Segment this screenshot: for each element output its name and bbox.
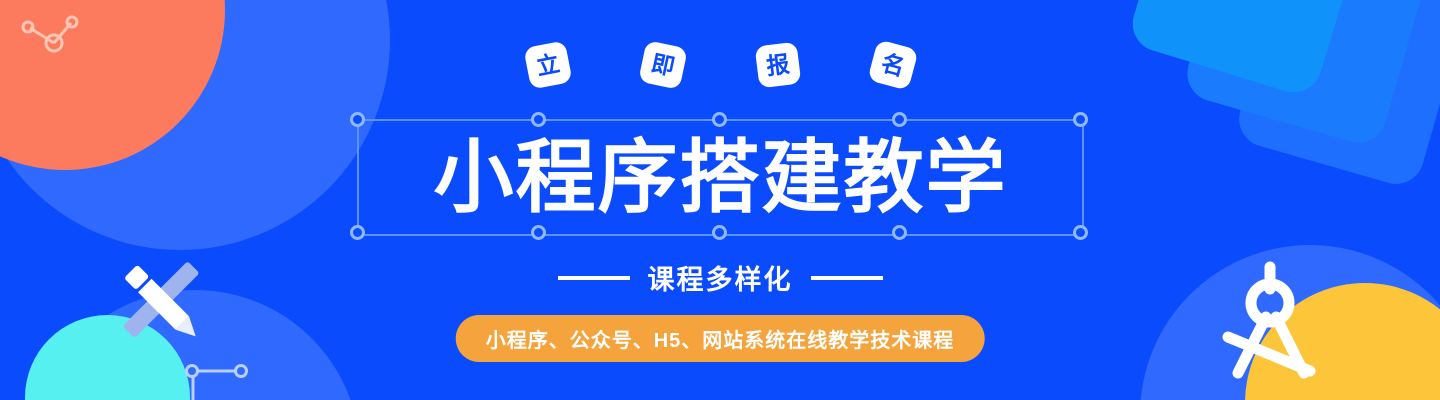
subtitle-rule-left <box>558 276 630 280</box>
resize-handle-tc[interactable] <box>712 112 727 127</box>
resize-handle-tl[interactable] <box>350 112 365 127</box>
promo-banner: 立 即 报 名 小程序搭建教学 课程多样化 小程序、公众号、H5、网站系统在线教… <box>0 0 1440 400</box>
badge-li-label: 立 <box>534 52 561 79</box>
badge-ji: 即 <box>638 40 688 90</box>
course-scope-pill[interactable]: 小程序、公众号、H5、网站系统在线教学技术课程 <box>456 315 985 362</box>
subtitle-row: 课程多样化 <box>0 258 1440 297</box>
subtitle-rule-right <box>811 276 883 280</box>
resize-handle-tr[interactable] <box>1073 112 1088 127</box>
resize-handle-b2[interactable] <box>892 225 907 240</box>
badge-li: 立 <box>523 40 572 89</box>
resize-handle-br[interactable] <box>1073 225 1088 240</box>
enroll-badge-row: 立 即 报 名 <box>0 44 1440 86</box>
badge-ji-label: 即 <box>649 51 676 78</box>
resize-handle-t1[interactable] <box>531 112 546 127</box>
badge-ming: 名 <box>867 39 918 90</box>
subtitle-text: 课程多样化 <box>648 258 793 297</box>
badge-bao-label: 报 <box>765 52 791 78</box>
badge-ming-label: 名 <box>878 51 906 79</box>
page-title: 小程序搭建教学 <box>359 121 1082 234</box>
node-link-icon <box>175 358 267 400</box>
title-selection-frame: 小程序搭建教学 <box>357 119 1084 236</box>
resize-handle-b1[interactable] <box>531 225 546 240</box>
resize-handle-bc[interactable] <box>712 225 727 240</box>
badge-bao: 报 <box>754 42 801 89</box>
resize-handle-bl[interactable] <box>350 225 365 240</box>
